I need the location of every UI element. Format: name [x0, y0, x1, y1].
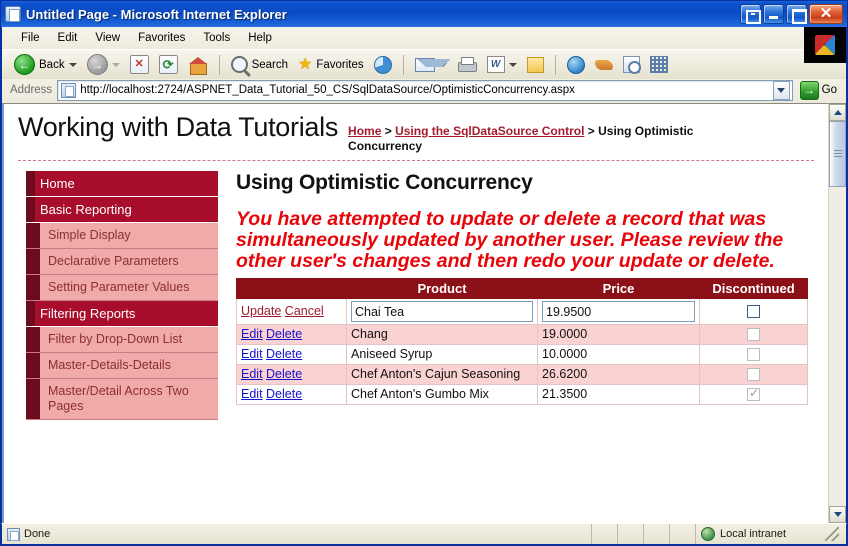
- column-header-discontinued: Discontinued: [700, 279, 808, 299]
- status-bar: Done Local intranet: [1, 523, 847, 545]
- column-header-commands: [237, 279, 347, 299]
- product-cell: [347, 299, 538, 325]
- edit-word-icon: W: [487, 56, 505, 73]
- scroll-up-button[interactable]: [829, 104, 846, 121]
- stop-icon: [130, 55, 149, 74]
- price-cell: 21.3500: [538, 385, 700, 405]
- price-cell: [538, 299, 700, 325]
- sidebar-item-filtering-reports[interactable]: Filtering Reports: [26, 301, 218, 327]
- delete-link[interactable]: Delete: [266, 367, 302, 381]
- page-title: Using Optimistic Concurrency: [236, 171, 808, 195]
- page-viewport: Working with Data Tutorials Home > Using…: [1, 103, 847, 523]
- table-row: Edit Delete Chang 19.0000: [237, 325, 808, 345]
- msn-button[interactable]: [591, 55, 617, 75]
- price-cell: 10.0000: [538, 345, 700, 365]
- edit-link[interactable]: Edit: [241, 387, 263, 401]
- menu-file[interactable]: File: [12, 30, 49, 46]
- discontinued-checkbox-readonly: [747, 328, 760, 341]
- sidebar-item-master-detail-across-two-pages[interactable]: Master/Detail Across Two Pages: [26, 379, 218, 420]
- address-url-text: http://localhost:2724/ASPNET_Data_Tutori…: [80, 84, 768, 96]
- product-cell: Aniseed Syrup: [347, 345, 538, 365]
- discontinued-cell: [700, 325, 808, 345]
- back-icon: ←: [14, 54, 35, 75]
- go-label: Go: [822, 84, 837, 96]
- table-row: Edit Delete Chef Anton's Cajun Seasoning…: [237, 365, 808, 385]
- price-input[interactable]: [542, 301, 695, 322]
- research-icon: [623, 56, 640, 73]
- history-icon: [374, 56, 392, 74]
- notes-icon: [527, 57, 544, 73]
- document-icon: [7, 528, 20, 541]
- back-button[interactable]: ← Back: [10, 52, 81, 77]
- menu-bar: File Edit View Favorites Tools Help: [2, 27, 846, 49]
- page-icon: [5, 6, 21, 22]
- row-commands: Edit Delete: [237, 325, 347, 345]
- page-document: Working with Data Tutorials Home > Using…: [2, 103, 828, 523]
- scroll-down-button[interactable]: [829, 506, 846, 523]
- product-cell: Chef Anton's Gumbo Mix: [347, 385, 538, 405]
- window-controls: ✕: [740, 4, 845, 24]
- status-text-cell: Done: [2, 524, 592, 544]
- edit-dropdown-icon[interactable]: [509, 63, 517, 67]
- cancel-link[interactable]: Cancel: [285, 304, 324, 318]
- sidebar-item-home[interactable]: Home: [26, 171, 218, 197]
- discontinued-checkbox-readonly: [747, 368, 760, 381]
- browser-window: Untitled Page - Microsoft Internet Explo…: [0, 0, 848, 546]
- products-grid: Product Price Discontinued Update Cancel: [236, 278, 808, 405]
- status-pad-4: [670, 524, 696, 544]
- table-row: Edit Delete Aniseed Syrup 10.0000: [237, 345, 808, 365]
- breadcrumb-sep-1: >: [381, 124, 395, 138]
- product-cell: Chang: [347, 325, 538, 345]
- row-commands: Edit Delete: [237, 385, 347, 405]
- edit-link[interactable]: Edit: [241, 367, 263, 381]
- close-button[interactable]: ✕: [809, 4, 843, 24]
- scrollbar-thumb[interactable]: [829, 121, 846, 187]
- back-label: Back: [39, 59, 65, 71]
- menu-tools[interactable]: Tools: [194, 30, 239, 46]
- go-arrow-icon: →: [800, 81, 819, 100]
- toolbar-separator-2: [403, 55, 404, 75]
- address-label: Address: [10, 84, 52, 96]
- forward-button[interactable]: →: [83, 52, 124, 77]
- address-input[interactable]: http://localhost:2724/ASPNET_Data_Tutori…: [57, 80, 792, 101]
- messenger-button[interactable]: [563, 54, 589, 76]
- sidebar-item-setting-parameter-values[interactable]: Setting Parameter Values: [26, 275, 218, 301]
- stop-button[interactable]: [126, 53, 153, 76]
- sidebar-nav: Home Basic Reporting Simple Display Decl…: [18, 171, 218, 420]
- maximize-button[interactable]: [786, 4, 807, 24]
- scrollbar-track[interactable]: [829, 121, 846, 506]
- breadcrumb-sep-2: >: [584, 124, 598, 138]
- home-button[interactable]: [184, 54, 212, 76]
- msn-icon: [595, 57, 613, 73]
- print-button[interactable]: [453, 55, 481, 74]
- delete-link[interactable]: Delete: [266, 327, 302, 341]
- window-title: Untitled Page - Microsoft Internet Explo…: [26, 7, 740, 22]
- minimize-button[interactable]: [763, 4, 784, 24]
- update-link[interactable]: Update: [241, 304, 281, 318]
- history-button[interactable]: [370, 54, 396, 76]
- breadcrumb-home-link[interactable]: Home: [348, 124, 381, 138]
- windows-flag-icon: [815, 35, 835, 55]
- notes-button[interactable]: [523, 55, 548, 75]
- go-button[interactable]: → Go: [798, 80, 842, 101]
- page-scrollbar[interactable]: [828, 103, 846, 523]
- page-body: Home Basic Reporting Simple Display Decl…: [18, 161, 814, 420]
- page-masthead: Working with Data Tutorials Home > Using…: [18, 112, 814, 154]
- status-pad-1: [592, 524, 618, 544]
- delete-link[interactable]: Delete: [266, 387, 302, 401]
- concurrency-error-message: You have attempted to update or delete a…: [236, 209, 808, 272]
- discontinued-cell: [700, 299, 808, 325]
- product-name-input[interactable]: [351, 301, 533, 322]
- edit-link[interactable]: Edit: [241, 327, 263, 341]
- product-cell: Chef Anton's Cajun Seasoning: [347, 365, 538, 385]
- toolbar-separator-3: [555, 55, 556, 75]
- row-commands: Edit Delete: [237, 345, 347, 365]
- page-icon-small: [61, 83, 76, 98]
- search-label: Search: [252, 59, 288, 71]
- address-dropdown-button[interactable]: [773, 81, 790, 100]
- status-text: Done: [24, 528, 50, 540]
- security-zone-cell[interactable]: Local intranet: [696, 524, 846, 544]
- print-icon: [457, 57, 477, 72]
- site-title: Working with Data Tutorials: [18, 112, 338, 143]
- delete-link[interactable]: Delete: [266, 347, 302, 361]
- research-button[interactable]: [619, 54, 644, 75]
- edit-word-button[interactable]: W: [483, 54, 521, 75]
- resize-grip[interactable]: [825, 527, 839, 541]
- forward-dropdown-icon[interactable]: [112, 63, 120, 67]
- toolbar: ← Back → Search ★: [2, 49, 846, 79]
- status-pad-2: [618, 524, 644, 544]
- code-button[interactable]: [646, 54, 672, 75]
- grid-header-row: Product Price Discontinued: [237, 279, 808, 299]
- edit-link[interactable]: Edit: [241, 347, 263, 361]
- menu-help[interactable]: Help: [239, 30, 281, 46]
- restore-group-button[interactable]: [740, 4, 761, 24]
- browser-chrome: File Edit View Favorites Tools Help ← Ba…: [1, 27, 847, 103]
- messenger-globe-icon: [567, 56, 585, 74]
- menu-view[interactable]: View: [86, 30, 129, 46]
- code-icon: [650, 56, 668, 73]
- forward-icon: →: [87, 54, 108, 75]
- favorites-label: Favorites: [316, 59, 363, 71]
- table-row: Edit Delete Chef Anton's Gumbo Mix 21.35…: [237, 385, 808, 405]
- back-dropdown-icon[interactable]: [69, 63, 77, 67]
- price-cell: 26.6200: [538, 365, 700, 385]
- discontinued-cell: [700, 365, 808, 385]
- price-cell: 19.0000: [538, 325, 700, 345]
- security-zone-label: Local intranet: [720, 528, 786, 540]
- discontinued-checkbox-readonly: [747, 348, 760, 361]
- favorites-star-icon: ★: [298, 57, 312, 73]
- refresh-button[interactable]: [155, 53, 182, 76]
- sidebar-item-master-details-details[interactable]: Master-Details-Details: [26, 353, 218, 379]
- search-button[interactable]: Search: [227, 54, 292, 75]
- address-bar: Address http://localhost:2724/ASPNET_Dat…: [2, 79, 846, 103]
- sidebar-item-basic-reporting[interactable]: Basic Reporting: [26, 197, 218, 223]
- table-row: Update Cancel: [237, 299, 808, 325]
- refresh-icon: [159, 55, 178, 74]
- row-commands: Edit Delete: [237, 365, 347, 385]
- sidebar-item-simple-display[interactable]: Simple Display: [26, 223, 218, 249]
- toolbar-separator: [219, 55, 220, 75]
- mail-icon: [415, 58, 435, 72]
- discontinued-checkbox-readonly: [747, 388, 760, 401]
- ie-logo-banner: [804, 27, 846, 63]
- column-header-price: Price: [538, 279, 700, 299]
- discontinued-checkbox[interactable]: [747, 305, 760, 318]
- sidebar-item-filter-by-dropdown-list[interactable]: Filter by Drop-Down List: [26, 327, 218, 353]
- status-pad-3: [644, 524, 670, 544]
- column-header-product: Product: [347, 279, 538, 299]
- globe-zone-icon: [701, 527, 715, 541]
- search-icon: [231, 56, 248, 73]
- menu-edit[interactable]: Edit: [49, 30, 87, 46]
- discontinued-cell: [700, 345, 808, 365]
- main-content: Using Optimistic Concurrency You have at…: [218, 171, 814, 420]
- breadcrumb-section-link[interactable]: Using the SqlDataSource Control: [395, 124, 584, 138]
- favorites-button[interactable]: ★ Favorites: [294, 55, 368, 75]
- home-icon: [188, 56, 208, 74]
- breadcrumb: Home > Using the SqlDataSource Control >…: [348, 112, 713, 154]
- title-bar: Untitled Page - Microsoft Internet Explo…: [1, 1, 847, 27]
- discontinued-cell: [700, 385, 808, 405]
- mail-button[interactable]: [411, 56, 451, 74]
- sidebar-item-declarative-parameters[interactable]: Declarative Parameters: [26, 249, 218, 275]
- menu-favorites[interactable]: Favorites: [129, 30, 194, 46]
- row-commands-edit-mode: Update Cancel: [237, 299, 347, 325]
